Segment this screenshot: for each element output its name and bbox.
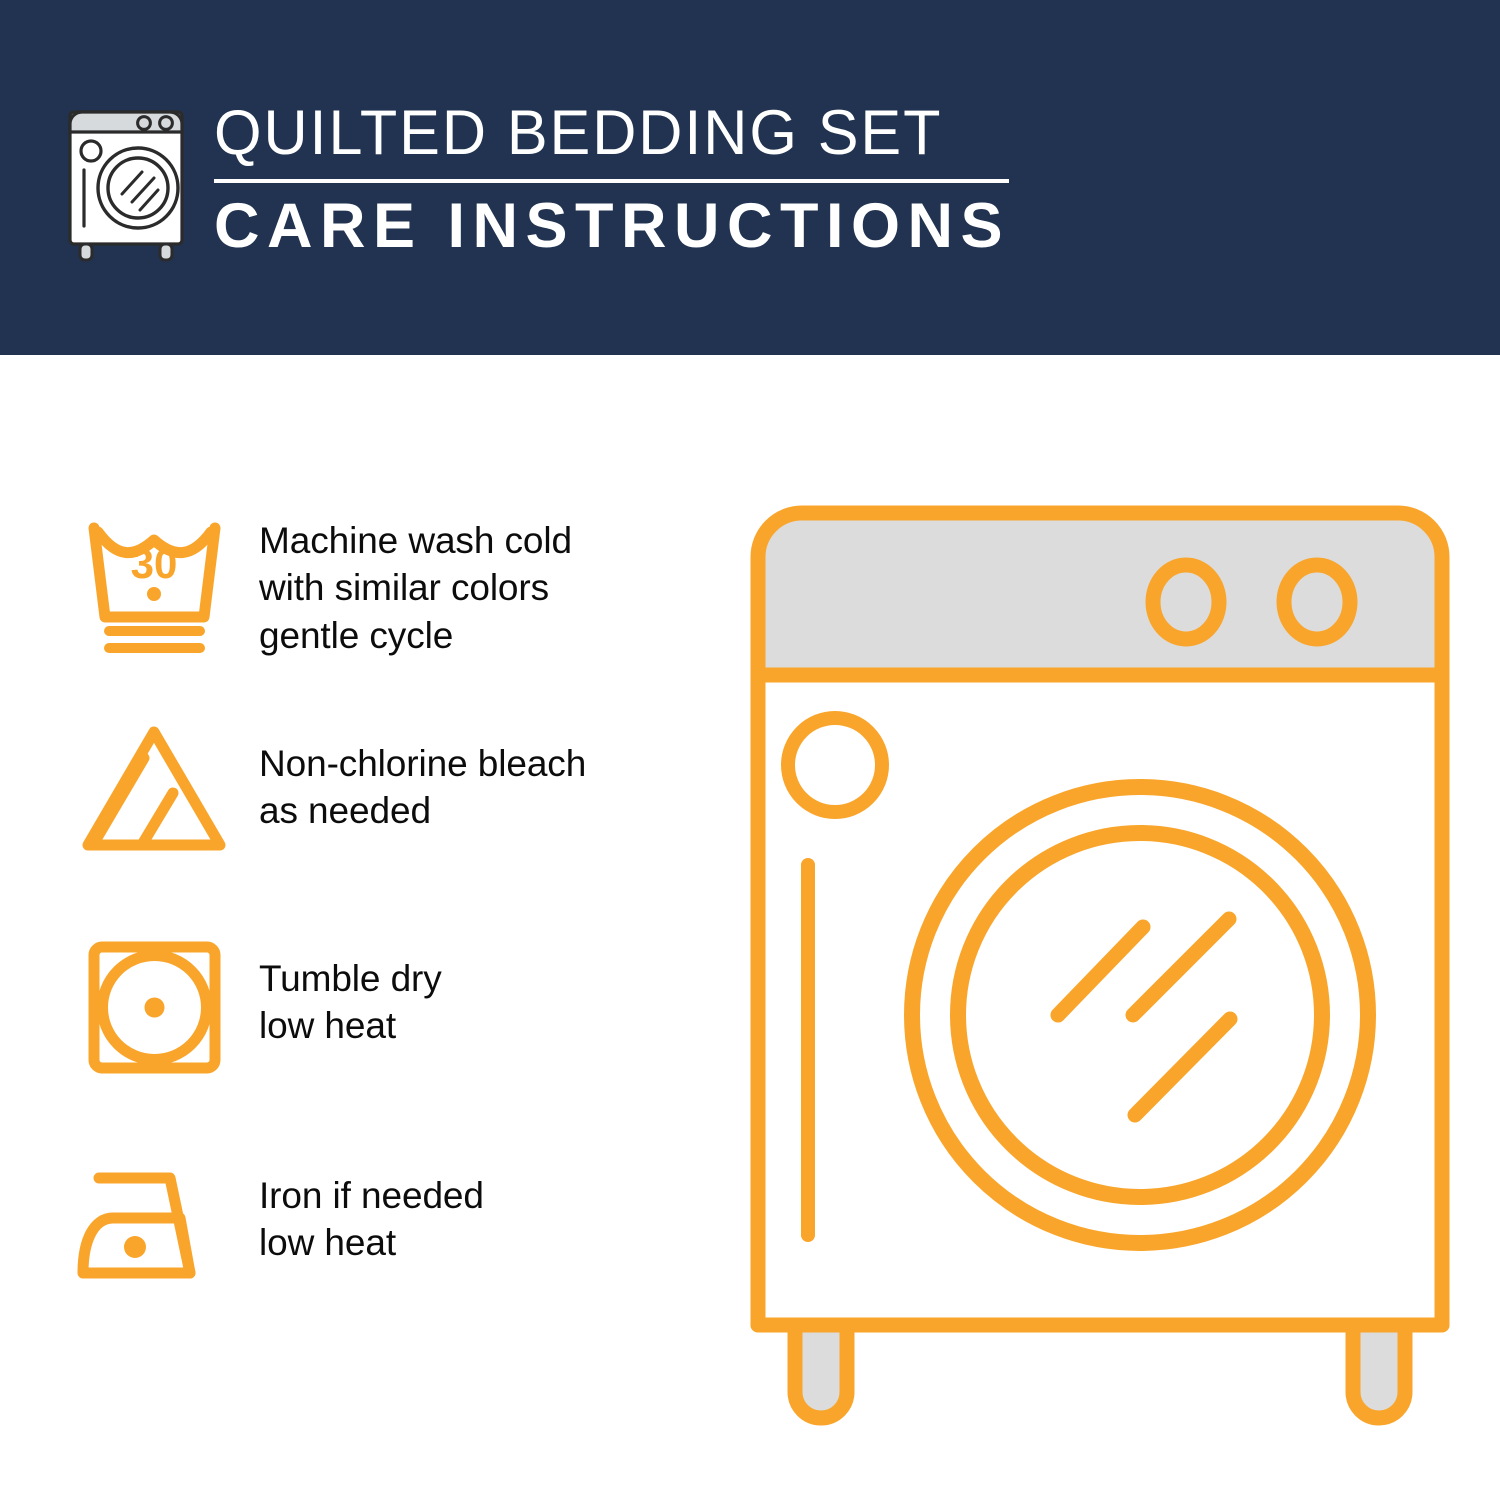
care-label-line: Iron if needed <box>259 1172 484 1219</box>
control-panel <box>758 513 1442 675</box>
care-instruction-list: 30 Machine wash cold with similar colors… <box>72 495 712 1355</box>
care-label-line: Non-chlorine bleach <box>259 740 586 787</box>
page-subtitle: CARE INSTRUCTIONS <box>214 193 1010 259</box>
care-row-machine-wash: 30 Machine wash cold with similar colors… <box>72 495 712 710</box>
washing-machine-illustration <box>740 495 1460 1440</box>
care-label-bleach: Non-chlorine bleach as needed <box>259 710 586 835</box>
iron-low-heat-icon <box>72 1140 237 1305</box>
header-titles: QUILTED BEDDING SET CARE INSTRUCTIONS <box>214 98 1010 259</box>
care-label-line: with similar colors <box>259 564 572 611</box>
care-row-iron: Iron if needed low heat <box>72 1140 712 1355</box>
wash-tub-30-gentle-icon: 30 <box>72 495 237 660</box>
care-label-line: gentle cycle <box>259 612 572 659</box>
care-row-tumble-dry: Tumble dry low heat <box>72 925 712 1140</box>
care-row-bleach: Non-chlorine bleach as needed <box>72 710 712 925</box>
care-label-tumble-dry: Tumble dry low heat <box>259 925 442 1050</box>
foot-left <box>795 1325 847 1418</box>
care-label-line: low heat <box>259 1219 484 1266</box>
care-label-iron: Iron if needed low heat <box>259 1140 484 1267</box>
foot-right <box>1353 1325 1405 1418</box>
care-instructions-infographic: QUILTED BEDDING SET CARE INSTRUCTIONS 30 <box>0 0 1500 1500</box>
machine-body <box>758 675 1442 1325</box>
care-label-machine-wash: Machine wash cold with similar colors ge… <box>259 495 572 659</box>
care-label-line: as needed <box>259 787 586 834</box>
tumble-dry-low-icon <box>72 925 237 1090</box>
page-title: QUILTED BEDDING SET <box>214 102 986 165</box>
care-label-line: low heat <box>259 1002 442 1049</box>
care-label-line: Machine wash cold <box>259 517 572 564</box>
non-chlorine-bleach-triangle-icon <box>72 710 237 875</box>
washing-machine-icon <box>62 98 192 263</box>
header-band: QUILTED BEDDING SET CARE INSTRUCTIONS <box>0 0 1500 355</box>
care-label-line: Tumble dry <box>259 955 442 1002</box>
wash-temp-label: 30 <box>131 540 178 587</box>
title-divider <box>214 179 1009 183</box>
header-content: QUILTED BEDDING SET CARE INSTRUCTIONS <box>62 98 1010 263</box>
